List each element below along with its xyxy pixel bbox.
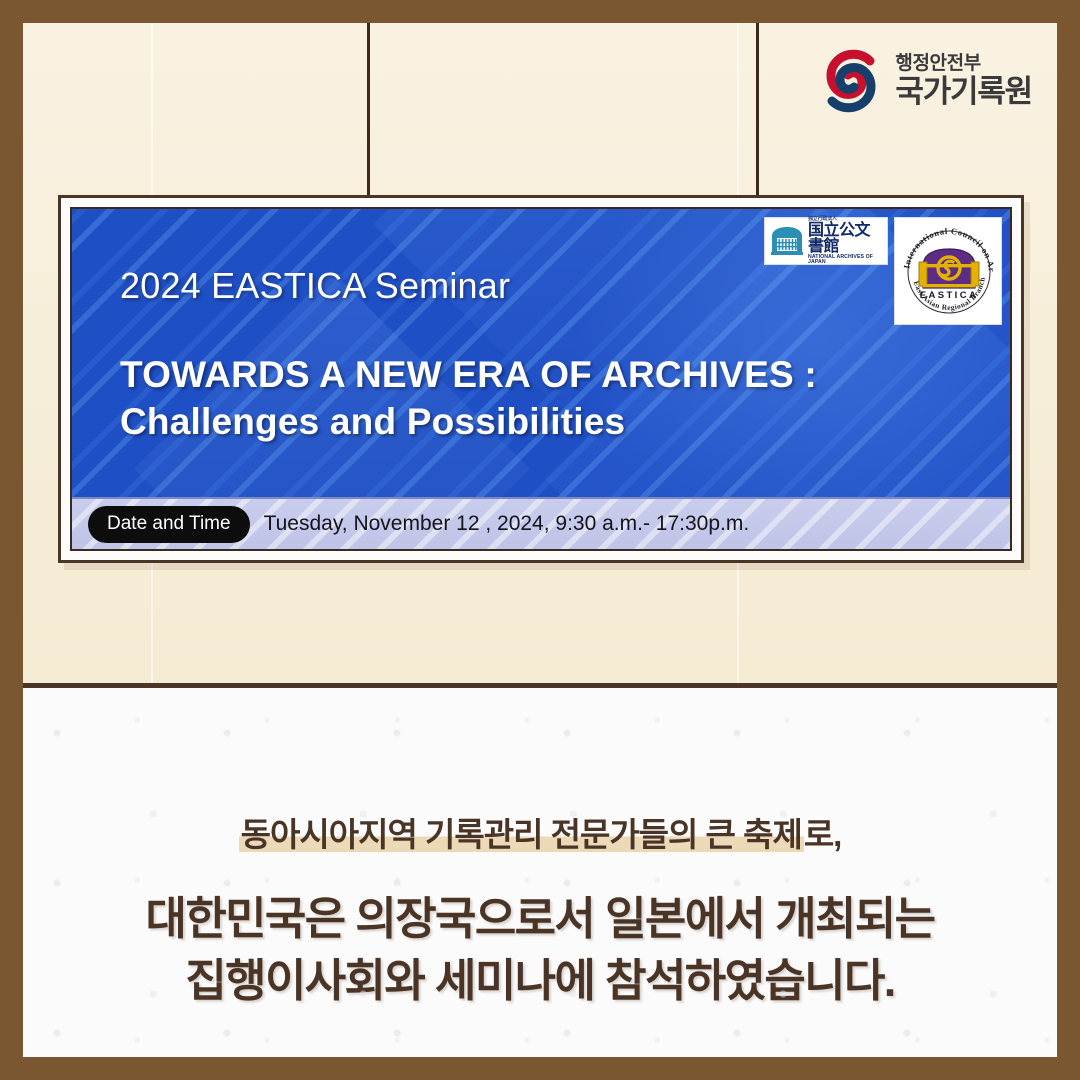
banner-title: TOWARDS A NEW ERA OF ARCHIVES : Challeng… <box>120 351 860 446</box>
poster-card: 행정안전부 국가기록원 2024 EASTICA Seminar TOWARDS… <box>23 23 1057 1057</box>
caption-line-1: 동아시아지역 기록관리 전문가들의 큰 축제로, <box>23 808 1057 856</box>
hanging-string-icon <box>367 23 370 219</box>
caption-line1-tail: 로, <box>804 816 842 853</box>
naj-kanji-name: 国立公文書館 <box>808 222 882 254</box>
naj-logo-text: 独立行政法人 国立公文書館 NATIONAL ARCHIVES OF JAPAN <box>808 217 882 265</box>
banner-logo-group: 独立行政法人 国立公文書館 NATIONAL ARCHIVES OF JAPAN <box>764 217 1002 325</box>
national-archives-of-japan-logo: 独立行政法人 国立公文書館 NATIONAL ARCHIVES OF JAPAN <box>764 217 888 265</box>
banner-date-strip: Date and Time Tuesday, November 12 , 202… <box>72 497 1010 549</box>
eastica-ica-logo: International Council on Archives East A… <box>894 217 1002 325</box>
seminar-banner: 2024 EASTICA Seminar TOWARDS A NEW ERA O… <box>70 207 1012 551</box>
government-logo: 행정안전부 국가기록원 <box>819 49 1032 113</box>
banner-title-line2: Challenges and Possibilities <box>120 398 860 445</box>
archives-building-icon <box>770 226 804 256</box>
date-and-time-value: Tuesday, November 12 , 2024, 9:30 a.m.- … <box>264 512 750 536</box>
seminar-banner-frame: 2024 EASTICA Seminar TOWARDS A NEW ERA O… <box>58 195 1024 563</box>
treasure-chest-icon: International Council on Archives East A… <box>895 218 1003 326</box>
svg-text:EASTICA: EASTICA <box>920 290 979 301</box>
government-logo-text: 행정안전부 국가기록원 <box>895 54 1032 108</box>
agency-name: 국가기록원 <box>895 76 1032 108</box>
naj-english-name: NATIONAL ARCHIVES OF JAPAN <box>808 255 882 265</box>
banner-eyebrow: 2024 EASTICA Seminar <box>120 265 510 307</box>
ministry-name: 행정안전부 <box>895 54 1032 74</box>
caption-block-2: 대한민국은 의장국으로서 일본에서 개최되는 집행이사회와 세미나에 참석하였습… <box>23 888 1057 1012</box>
caption-line-3: 집행이사회와 세미나에 참석하였습니다. <box>23 950 1057 1012</box>
taeguk-swirl-icon <box>819 49 883 113</box>
date-and-time-badge: Date and Time <box>88 506 250 543</box>
caption-line-2: 대한민국은 의장국으로서 일본에서 개최되는 <box>23 888 1057 950</box>
bottom-section: 동아시아지역 기록관리 전문가들의 큰 축제로, 대한민국은 의장국으로서 일본… <box>23 688 1057 1057</box>
caption-highlight: 동아시아지역 기록관리 전문가들의 큰 축제 <box>239 816 804 853</box>
hanging-string-icon <box>756 23 759 219</box>
banner-title-line1: TOWARDS A NEW ERA OF ARCHIVES : <box>120 354 817 395</box>
